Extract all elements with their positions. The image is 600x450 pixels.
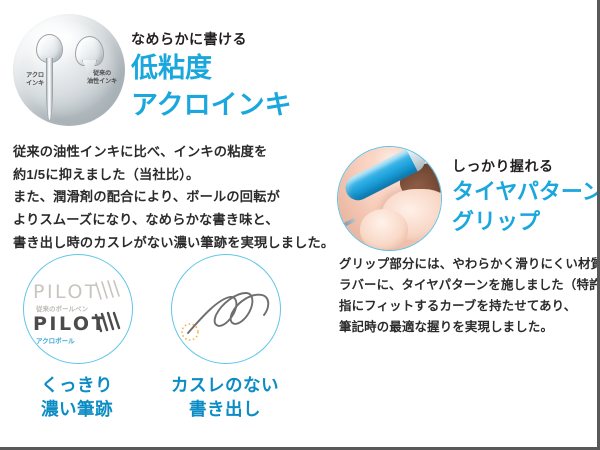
grip-section-heading: しっかり握れる タイヤパターン グリップ — [452, 158, 600, 235]
proof-caption-no-skipping: カスレのない 書き出し — [171, 374, 279, 421]
proof-caption-no-skipping-line2: 書き出し — [171, 398, 279, 422]
grip-headline-line2: グリップ — [452, 209, 600, 235]
ink-body-line-1: 従来の油性インキに比べ、インキの粘度を — [13, 141, 334, 164]
acro-ink-droplet-label: アクロ インキ — [22, 72, 48, 88]
oil-label-line2: 油性インキ — [85, 78, 119, 86]
handwriting-strokes-icon — [24, 255, 132, 363]
proof-caption-dark-stroke-line2: 濃い筆跡 — [23, 398, 131, 422]
scribble-start-sample-figure — [171, 254, 281, 364]
grip-body-line-1: グリップ部分には、やわらかく滑りにくい材質の — [339, 254, 600, 275]
ink-body-line-3: また、潤滑剤の配合により、ボールの回転が — [13, 186, 334, 209]
grip-body-line-4: 筆記時の最適な握りを実現しました。 — [339, 317, 600, 338]
ink-viscosity-comparison-figure: アクロ インキ 従来の 油性インキ — [13, 14, 125, 126]
proof-caption-no-skipping-line1: カスレのない — [171, 374, 279, 398]
pilot-handwriting-comparison-figure: PILOT 従来のボールペン PILOT アクロボール — [23, 254, 133, 364]
proof-caption-dark-stroke-line1: くっきり — [23, 374, 131, 398]
ink-section-body: 従来の油性インキに比べ、インキの粘度を 約1/5に抑えました（当社比）。 また、… — [13, 141, 334, 255]
acro-ink-droplet-tail-icon — [46, 58, 53, 120]
oil-ink-droplet-label: 従来の 油性インキ — [85, 70, 119, 86]
grip-body-line-2: ラバーに、タイヤパターンを施しました（特許登録済）。 — [339, 275, 600, 296]
grip-body-line-3: 指にフィットするカーブを持たせてあり、 — [339, 296, 600, 317]
hand-holding-pen-photo — [337, 146, 442, 251]
acro-label-line1: アクロ — [22, 72, 48, 80]
grip-headline-line1: タイヤパターン — [452, 179, 600, 205]
ink-section-heading: なめらかに書ける 低粘度 アクロインキ — [131, 31, 292, 122]
product-feature-page: アクロ インキ 従来の 油性インキ なめらかに書ける 低粘度 アクロインキ 従来… — [0, 0, 600, 450]
ink-kicker: なめらかに書ける — [131, 31, 292, 48]
scribble-stroke-icon — [172, 255, 280, 363]
acro-label-line2: インキ — [22, 80, 48, 88]
oil-label-line1: 従来の — [85, 70, 119, 78]
proof-caption-dark-stroke: くっきり 濃い筆跡 — [23, 374, 131, 421]
grip-kicker: しっかり握れる — [452, 158, 600, 175]
ink-body-line-4: よりスムーズになり、なめらかな書き味と、 — [13, 209, 334, 232]
ink-body-line-5: 書き出し時のカスレがない濃い筆跡を実現しました。 — [13, 232, 334, 255]
grip-section-body: グリップ部分には、やわらかく滑りにくい材質の ラバーに、タイヤパターンを施しまし… — [339, 254, 600, 338]
ink-body-line-2: 約1/5に抑えました（当社比）。 — [13, 164, 334, 187]
ink-headline-line2: アクロインキ — [131, 90, 292, 122]
ink-headline-line1: 低粘度 — [131, 53, 292, 85]
fingertip — [360, 209, 408, 249]
